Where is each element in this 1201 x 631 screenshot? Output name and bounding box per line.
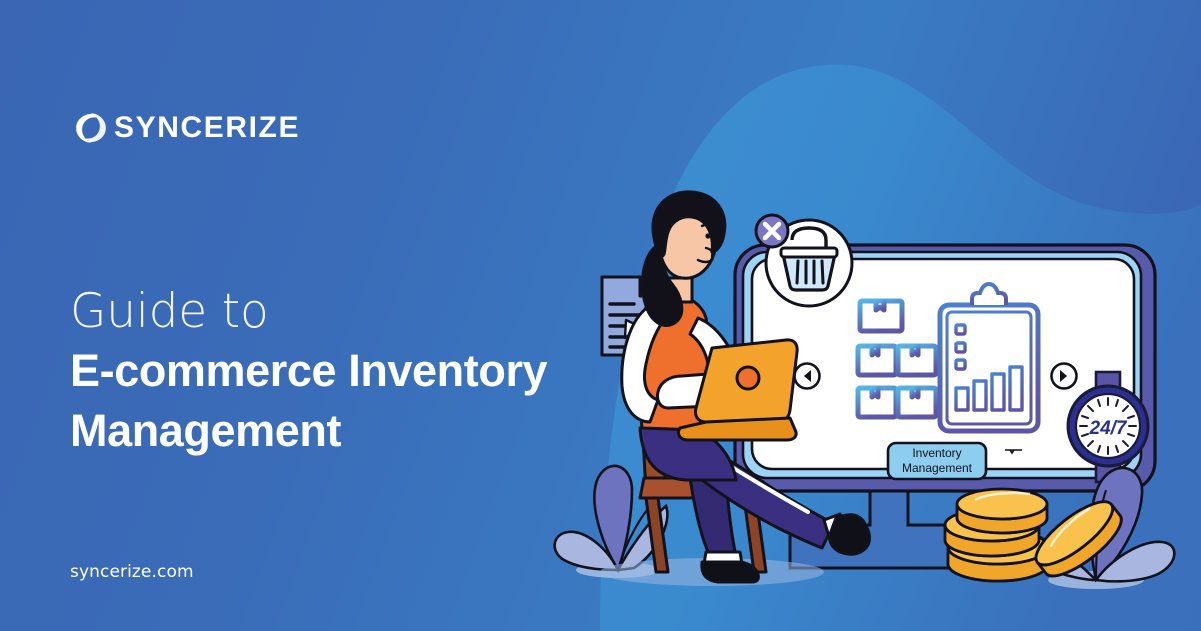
chip-line-1: Inventory	[912, 446, 961, 460]
illustration-svg: Inventory Management	[540, 160, 1201, 631]
inventory-management-chip[interactable]: Inventory Management	[888, 443, 986, 479]
clock-label: 24/7	[1089, 418, 1128, 439]
carousel-next-arrow-icon[interactable]	[1052, 364, 1077, 389]
chip-line-2: Management	[902, 461, 973, 475]
poster-canvas: SYNCERIZE Guide to E-commerce Inventory …	[0, 0, 1201, 631]
syncerize-s-logo-icon	[70, 107, 112, 149]
clipboard-report-icon	[940, 284, 1038, 431]
brand-logo[interactable]: SYNCERIZE	[70, 107, 300, 149]
close-x-badge-icon[interactable]	[756, 215, 788, 247]
site-url[interactable]: syncerize.com	[70, 562, 194, 582]
brand-name: SYNCERIZE	[114, 113, 300, 143]
hero-illustration: Inventory Management	[540, 160, 1201, 631]
carousel-prev-arrow-icon[interactable]	[795, 364, 820, 389]
